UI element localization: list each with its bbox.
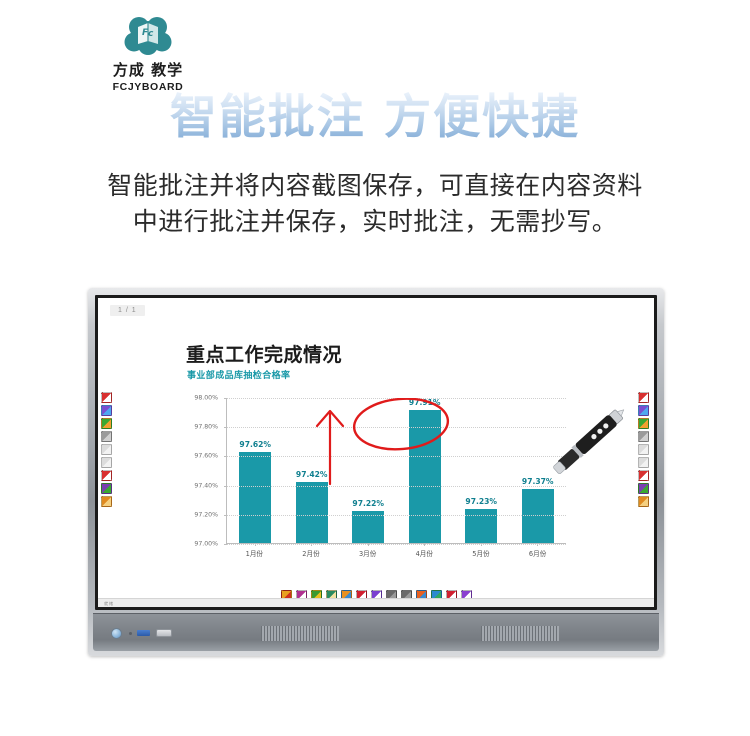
y-axis-tick-label: 97.60% [194,453,218,460]
grid-line [227,456,566,457]
undo-tool[interactable] [101,444,112,455]
x-axis-tick-label: 1月份 [231,548,279,558]
bar-column[interactable]: 97.23% [458,398,505,543]
speaker-grille-right [481,626,559,641]
delete-tool[interactable] [101,470,112,481]
stylus-pen [542,396,634,488]
y-axis: 98.00%97.80%97.60%97.40%97.20%97.00% [186,398,222,544]
bar-data-label: 97.62% [239,440,271,449]
eraser-tool[interactable] [638,431,649,442]
undo-tool[interactable] [638,444,649,455]
x-axis-tick-label: 3月份 [344,548,392,558]
x-axis-tick-label: 2月份 [287,548,335,558]
redo-tool[interactable] [638,457,649,468]
eraser-tool[interactable] [101,431,112,442]
bar-series: 97.62%97.42%97.22%97.91%97.23%97.37% [227,398,566,543]
y-axis-tick [224,515,227,516]
x-axis-tick-label: 6月份 [514,548,562,558]
bar[interactable] [409,410,441,543]
bar-column[interactable]: 97.91% [401,398,448,543]
bar[interactable] [522,489,554,543]
description-line-1: 智能批注并将内容截图保存，可直接在内容资料 [0,168,750,204]
screen-frame: 1 / 1 重点工作完成情况 事业部成品库抽检合格率 98.00%97.80%9… [95,295,657,610]
grid-line [227,515,566,516]
page-description: 智能批注并将内容截图保存，可直接在内容资料 中进行批注并保存，实时批注，无需抄写… [0,168,750,239]
y-axis-tick [224,486,227,487]
page-root: F c 方成 教学 FCJYBOARD 智能批注 方便快捷 智能批注并将内容截图… [0,0,750,736]
bar-data-label: 97.91% [409,398,441,407]
grid-line [227,398,566,399]
palette-tool[interactable] [638,483,649,494]
hdmi-port[interactable] [156,629,172,637]
flower-book-logo-icon: F c [122,14,174,58]
pen-red-tool[interactable] [101,392,112,403]
description-line-2: 中进行批注并保存，实时批注，无需抄写。 [0,204,750,240]
delete-tool[interactable] [638,470,649,481]
brand-logo: F c 方成 教学 FCJYBOARD [78,14,218,86]
pen-blue-tool[interactable] [638,405,649,416]
y-axis-tick [224,398,227,399]
y-axis-tick-label: 97.00% [194,541,218,548]
y-axis-tick-label: 97.40% [194,482,218,489]
device-chin [93,613,659,651]
x-axis-labels: 1月份2月份3月份4月份5月份6月份 [226,548,566,558]
save-tool[interactable] [638,496,649,507]
bar-data-label: 97.23% [465,497,497,506]
save-tool[interactable] [101,496,112,507]
bar-column[interactable]: 97.42% [288,398,335,543]
grid-line [227,427,566,428]
pen-blue-tool[interactable] [101,405,112,416]
y-axis-tick-label: 98.00% [194,395,218,402]
brand-name-cn: 方成 教学 [78,59,218,80]
indicator-dot [129,632,132,635]
y-axis-tick [224,544,227,545]
palette-tool[interactable] [101,483,112,494]
page-title: 智能批注 方便快捷 [0,92,750,145]
slide-subtitle: 事业部成品库抽检合格率 [187,368,290,381]
usb-port-blue[interactable] [137,630,150,636]
highlighter-tool[interactable] [101,418,112,429]
grid-line [227,486,566,487]
slide-title: 重点工作完成情况 [186,340,342,367]
bar-data-label: 97.22% [352,499,384,508]
pen-red-tool[interactable] [638,392,649,403]
y-axis-tick-label: 97.20% [194,511,218,518]
status-bar: 就绪 [98,598,654,607]
bar-chart: 98.00%97.80%97.60%97.40%97.20%97.00% 97.… [186,398,566,570]
x-axis-tick-label: 4月份 [401,548,449,558]
speaker-grille-left [261,626,339,641]
y-axis-tick [224,427,227,428]
x-axis-tick-label: 5月份 [457,548,505,558]
status-text: 就绪 [104,601,114,607]
svg-text:c: c [148,29,154,39]
interactive-whiteboard-device: 1 / 1 重点工作完成情况 事业部成品库抽检合格率 98.00%97.80%9… [88,288,664,656]
screen[interactable]: 1 / 1 重点工作完成情况 事业部成品库抽检合格率 98.00%97.80%9… [98,298,654,607]
bar-data-label: 97.42% [296,470,328,479]
bar[interactable] [239,452,271,543]
power-button[interactable] [111,628,122,639]
bar[interactable] [296,482,328,543]
y-axis-tick [224,456,227,457]
redo-tool[interactable] [101,457,112,468]
right-toolbar[interactable] [638,392,651,509]
bar-column[interactable]: 97.22% [345,398,392,543]
y-axis-tick-label: 97.80% [194,424,218,431]
grid-line [227,544,566,545]
highlighter-tool[interactable] [638,418,649,429]
bar-column[interactable]: 97.62% [232,398,279,543]
page-indicator: 1 / 1 [110,305,145,316]
left-toolbar[interactable] [101,392,114,509]
plot-area: 97.62%97.42%97.22%97.91%97.23%97.37% [226,398,566,544]
